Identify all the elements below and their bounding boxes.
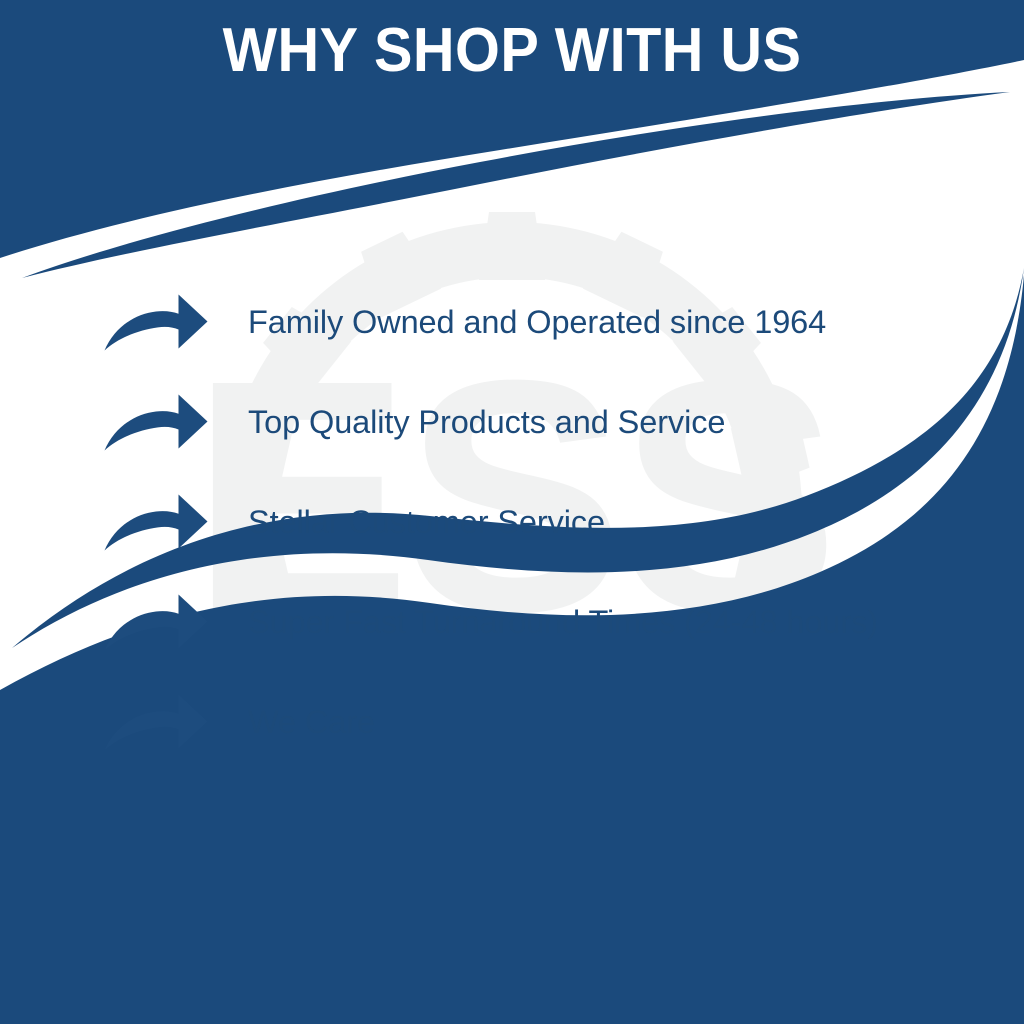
list-item: Super Fast Turnaround Times (24-48 hours… [104, 592, 1004, 692]
curved-arrow-right-icon [104, 394, 208, 456]
curved-arrow-right-icon [104, 494, 208, 556]
benefit-label: Super Fast Turnaround Times (24-48 hours… [248, 603, 1004, 641]
curved-arrow-right-icon [104, 294, 208, 356]
list-item: We Care [104, 692, 1004, 792]
curved-arrow-right-icon [104, 694, 208, 756]
why-shop-with-us-banner: ESS WHY SHOP WITH US Family Owned and Op… [0, 0, 1024, 1024]
list-item: Family Owned and Operated since 1964 [104, 292, 1004, 392]
list-item: Top Quality Products and Service [104, 392, 1004, 492]
benefits-list: Family Owned and Operated since 1964 Top… [104, 292, 1004, 792]
benefit-label: We Care [248, 703, 1004, 741]
page-title: WHY SHOP WITH US [36, 16, 988, 86]
list-item: Stellar Customer Service [104, 492, 1004, 592]
curved-arrow-right-icon [104, 594, 208, 656]
benefit-label: Family Owned and Operated since 1964 [248, 303, 1004, 341]
benefit-label: Top Quality Products and Service [248, 403, 1004, 441]
benefit-label: Stellar Customer Service [248, 503, 1004, 541]
